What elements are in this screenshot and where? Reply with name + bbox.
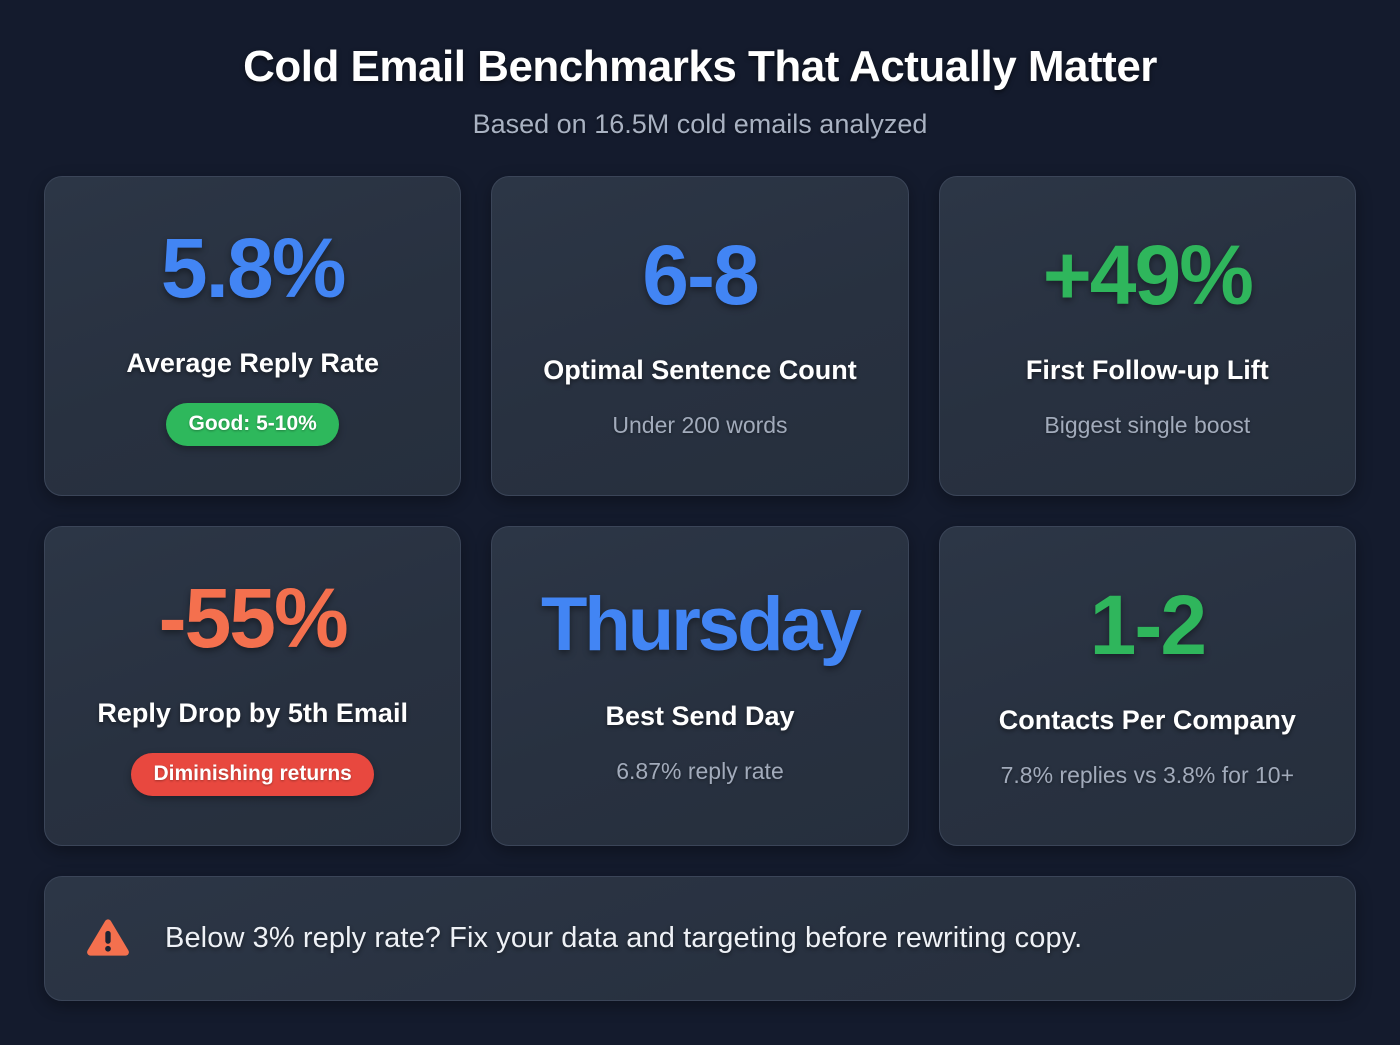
stat-card-best-send-day: Thursday Best Send Day 6.87% reply rate <box>491 526 908 846</box>
stat-card-contacts-per-company: 1-2 Contacts Per Company 7.8% replies vs… <box>939 526 1356 846</box>
page-title: Cold Email Benchmarks That Actually Matt… <box>44 42 1356 91</box>
stat-value: -55% <box>159 576 347 660</box>
benchmark-infographic: Cold Email Benchmarks That Actually Matt… <box>0 0 1400 1045</box>
stat-card-grid: 5.8% Average Reply Rate Good: 5-10% 6-8 … <box>44 176 1356 846</box>
stat-card-reply-drop-by-5th-email: -55% Reply Drop by 5th Email Diminishing… <box>44 526 461 846</box>
warning-banner-text: Below 3% reply rate? Fix your data and t… <box>165 922 1082 955</box>
stat-card-first-followup-lift: +49% First Follow-up Lift Biggest single… <box>939 176 1356 496</box>
header: Cold Email Benchmarks That Actually Matt… <box>44 42 1356 140</box>
stat-value: +49% <box>1043 233 1252 317</box>
stat-label: First Follow-up Lift <box>1026 355 1269 386</box>
stat-label: Average Reply Rate <box>126 348 379 379</box>
stat-label: Optimal Sentence Count <box>543 355 857 386</box>
stat-note: 6.87% reply rate <box>616 758 783 785</box>
page-subtitle: Based on 16.5M cold emails analyzed <box>44 109 1356 140</box>
warning-banner: Below 3% reply rate? Fix your data and t… <box>44 876 1356 1001</box>
stat-card-optimal-sentence-count: 6-8 Optimal Sentence Count Under 200 wor… <box>491 176 908 496</box>
status-badge: Good: 5-10% <box>166 403 338 446</box>
stat-label: Contacts Per Company <box>999 705 1296 736</box>
stat-label: Best Send Day <box>605 701 794 732</box>
stat-card-average-reply-rate: 5.8% Average Reply Rate Good: 5-10% <box>44 176 461 496</box>
stat-value: 6-8 <box>642 233 757 317</box>
stat-label: Reply Drop by 5th Email <box>97 698 408 729</box>
stat-value: Thursday <box>541 587 859 663</box>
warning-triangle-icon <box>85 918 131 960</box>
stat-note: Under 200 words <box>612 412 787 439</box>
stat-value: 1-2 <box>1090 583 1205 667</box>
stat-value: 5.8% <box>161 226 344 310</box>
status-badge: Diminishing returns <box>131 753 373 796</box>
stat-note: Biggest single boost <box>1044 412 1250 439</box>
stat-note: 7.8% replies vs 3.8% for 10+ <box>1001 762 1294 789</box>
